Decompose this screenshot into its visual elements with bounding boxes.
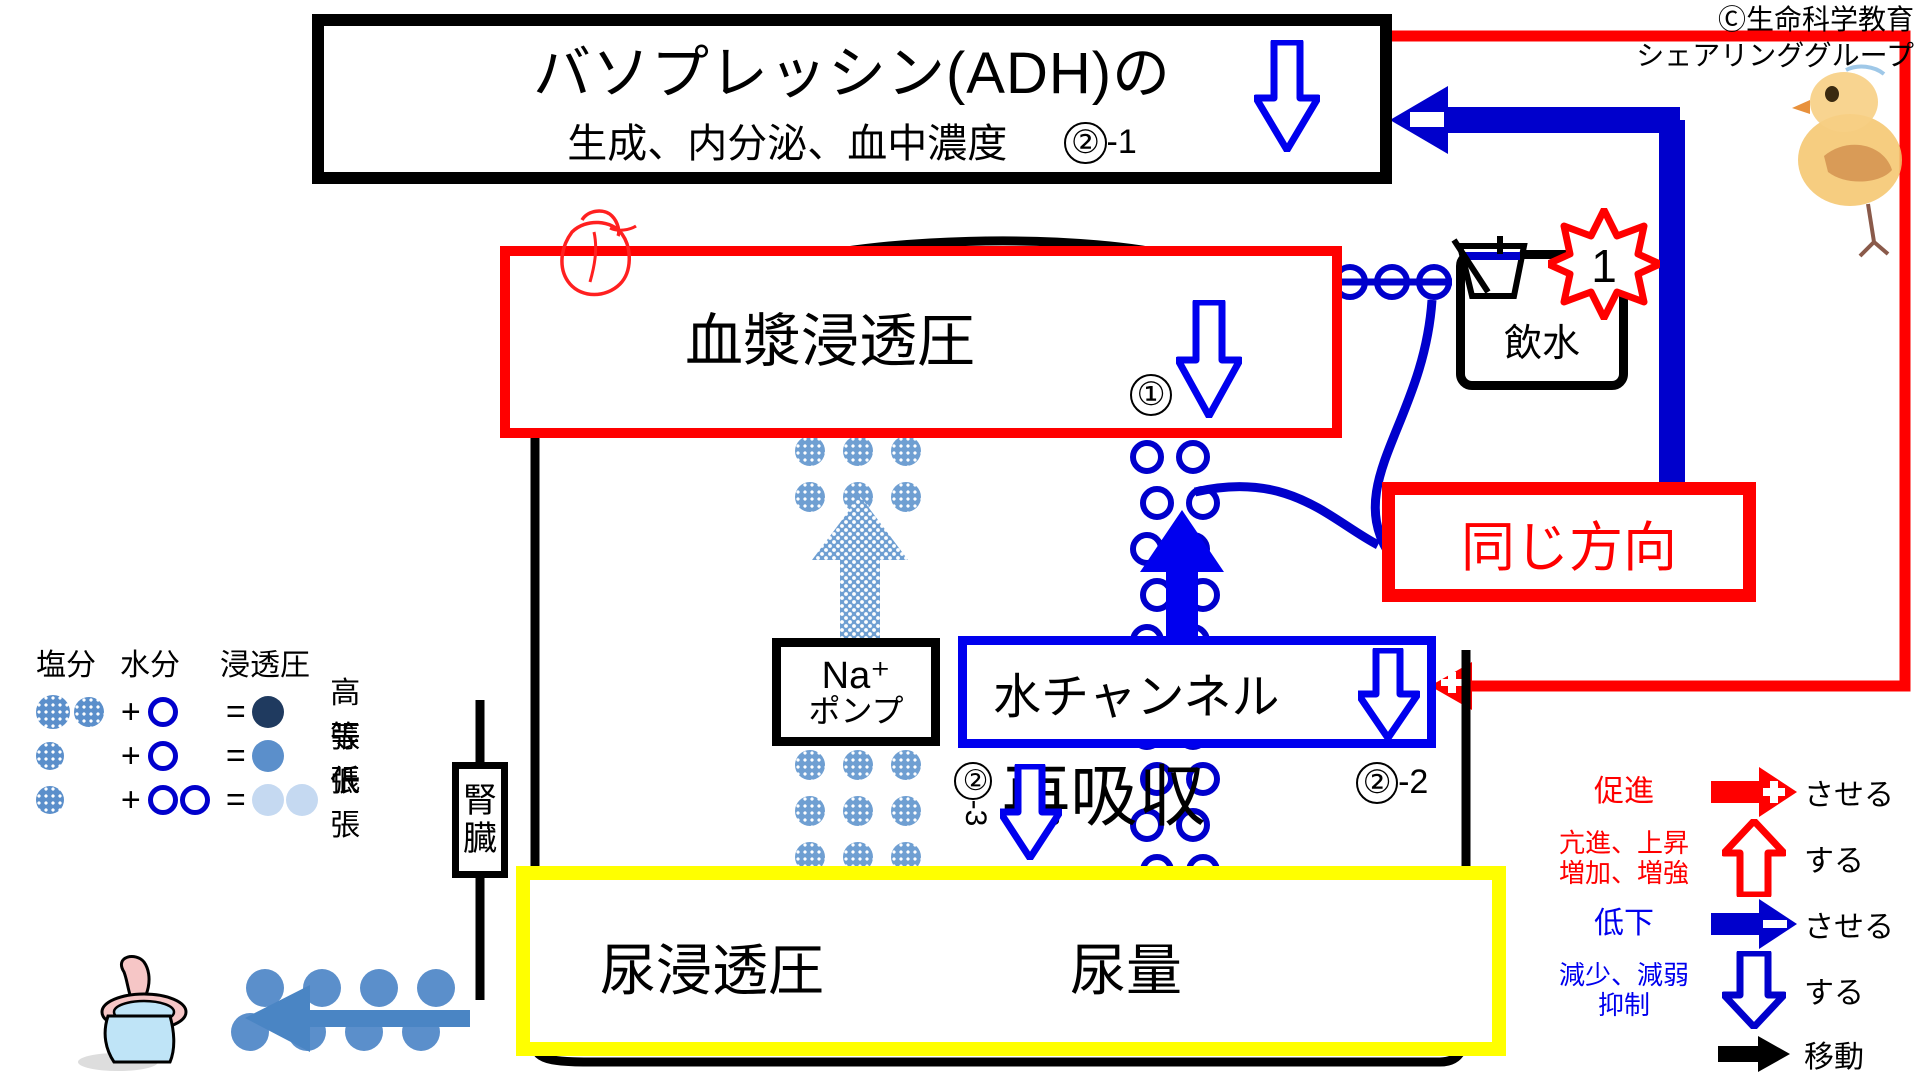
- kidney-label-char1: 腎: [463, 782, 497, 820]
- legend-promote-row2: 亢進、上昇 増加、増強 する: [1540, 818, 1920, 898]
- step-1-star-badge: 1: [1548, 208, 1660, 320]
- legend-header-water: 水分: [120, 640, 220, 684]
- result-dot: [252, 740, 284, 772]
- legend-suppress-caption-2: する: [1804, 968, 1864, 1012]
- legend-suppress-caption-1: させる: [1804, 902, 1894, 946]
- water-ring: [148, 741, 178, 771]
- water-molecule: [1176, 440, 1210, 474]
- move-right-arrow-icon: [1708, 1036, 1800, 1072]
- minus-right-arrow-icon: [1708, 899, 1800, 949]
- legend-equals: =: [220, 781, 252, 820]
- up-outline-red-arrow-icon: [1708, 819, 1800, 897]
- legend-move-caption: 移動: [1804, 1032, 1864, 1076]
- salt-particle: [795, 436, 825, 466]
- legend-plus: +: [114, 737, 147, 776]
- sodium-pump-line2: ポンプ: [808, 695, 903, 727]
- legend-promote-caption-2: する: [1804, 836, 1864, 880]
- legend-salt-dots: [36, 742, 114, 770]
- urine-osmolality-label: 尿浸透圧: [600, 940, 824, 1002]
- legend-salt-dots: [36, 786, 114, 814]
- legend-header-salt: 塩分: [36, 640, 120, 684]
- reabsorption-down-outline-arrow-icon: [1000, 764, 1062, 860]
- same-direction-label: 同じ方向: [1461, 503, 1677, 582]
- legend-move-row: 移動: [1540, 1030, 1920, 1078]
- water-molecule: [1130, 440, 1164, 474]
- adh-title-line1: バソプレッシン(ADH)の: [324, 42, 1380, 106]
- salt-particle: [891, 750, 921, 780]
- legend-promote-row1: 促進 させる: [1540, 766, 1920, 818]
- legend-promote-caption-1: させる: [1804, 770, 1894, 814]
- step-1-star-number: 1: [1591, 240, 1617, 292]
- adh-marker-circle: ②: [1064, 122, 1106, 164]
- salt-particle: [891, 796, 921, 826]
- water-ring: [180, 785, 210, 815]
- legend-water-rings: [148, 697, 220, 727]
- drinking-water-label: 飲水: [1504, 312, 1580, 367]
- legend-result-dots: [252, 784, 323, 816]
- legend-suppress-text-rest: 減少、減弱 抑制: [1540, 960, 1708, 1020]
- adh-title-line2-row: 生成、内分泌、血中濃度 ②-1: [324, 118, 1380, 168]
- toilet-icon: [78, 952, 228, 1076]
- salt-particle: [795, 750, 825, 780]
- water-glass-icon: [1448, 232, 1548, 312]
- salt-dot: [36, 786, 64, 814]
- legend-suppress-text-line3: 抑制: [1540, 990, 1708, 1020]
- result-dot: [252, 696, 284, 728]
- plasma-marker-circle: ①: [1130, 374, 1172, 416]
- kidney-label-char2: 臓: [463, 820, 497, 858]
- reabsorption-marker-circle: ②: [954, 762, 992, 800]
- salt-dot: [36, 695, 70, 729]
- arrow-legend: 促進 させる 亢進、上昇 増加、増強 する 低下: [1540, 766, 1920, 1078]
- legend-water-rings: [148, 785, 220, 815]
- water-channel-down-outline-arrow-icon: [1358, 648, 1420, 740]
- water-channel-marker: ②-2: [1356, 762, 1428, 804]
- legend-water-rings: [148, 741, 220, 771]
- sodium-pump-line1: Na⁺: [822, 657, 891, 695]
- plasma-marker: ①: [1130, 374, 1172, 416]
- adh-title-box: バソプレッシン(ADH)の 生成、内分泌、血中濃度 ②-1: [312, 14, 1392, 184]
- legend-suppress-row1: 低下 させる: [1540, 898, 1920, 950]
- plus-right-arrow-icon: [1708, 767, 1800, 817]
- legend-suppress-row2: 減少、減弱 抑制 する: [1540, 950, 1920, 1030]
- plasma-down-outline-arrow-icon: [1176, 300, 1242, 418]
- sodium-pump-up-arrow: [812, 496, 908, 646]
- legend-result-dots: [252, 740, 323, 772]
- bird-doodle-icon: [1788, 60, 1920, 260]
- sodium-pump-box: Na⁺ ポンプ: [772, 638, 940, 746]
- legend-result-label: 低張: [330, 756, 386, 844]
- kidney-label: 腎 臓: [452, 762, 508, 878]
- legend-header-osmolality: 浸透圧: [220, 640, 310, 684]
- water-ring: [148, 697, 178, 727]
- adh-title-line2: 生成、内分泌、血中濃度: [567, 120, 1007, 168]
- salt-dot: [36, 742, 64, 770]
- adh-marker: ②-1: [1064, 118, 1136, 166]
- copyright-line1: Ⓒ生命科学教育: [1636, 2, 1914, 38]
- adh-marker-suffix: -1: [1107, 123, 1137, 161]
- urine-volume-label: 尿量: [1070, 940, 1182, 1002]
- salt-particle: [843, 796, 873, 826]
- legend-promote-text-rest: 亢進、上昇 増加、増強: [1540, 828, 1708, 888]
- salt-dot: [74, 697, 104, 727]
- salt-particle: [891, 436, 921, 466]
- result-dot: [252, 784, 284, 816]
- salt-particle: [843, 436, 873, 466]
- result-dot: [286, 784, 318, 816]
- legend-salt-dots: [36, 695, 114, 729]
- legend-plus: +: [114, 693, 147, 732]
- down-outline-blue-arrow-icon: [1708, 951, 1800, 1029]
- legend-result-dots: [252, 696, 323, 728]
- water-channel-label: 水チャンネル: [993, 657, 1280, 727]
- plasma-osmolality-label: 血漿浸透圧: [510, 310, 1150, 374]
- legend-equals: =: [220, 693, 252, 732]
- salt-particle: [843, 750, 873, 780]
- water-channel-marker-circle: ②: [1356, 762, 1398, 804]
- salt-particle: [795, 796, 825, 826]
- heart-icon: [548, 202, 644, 302]
- legend-suppress-text-line2: 減少、減弱: [1540, 960, 1708, 990]
- legend-promote-text-line3: 増加、増強: [1540, 858, 1708, 888]
- same-direction-box: 同じ方向: [1382, 482, 1756, 602]
- legend-row: +=低張: [36, 778, 386, 822]
- adh-down-outline-arrow-icon: [1254, 40, 1320, 152]
- reabsorption-marker: ②-3: [952, 762, 992, 826]
- legend-equals: =: [220, 737, 252, 776]
- water-ring: [148, 785, 178, 815]
- legend-promote-text-line2: 亢進、上昇: [1540, 828, 1708, 858]
- legend-suppress-text-line1: 低下: [1540, 909, 1708, 939]
- legend-plus: +: [114, 781, 147, 820]
- reabsorption-marker-suffix: -3: [959, 800, 992, 827]
- osmolality-legend: 塩分 水分 浸透圧 +=高張+=等張+=低張: [36, 640, 386, 822]
- legend-promote-text-line1: 促進: [1540, 777, 1708, 807]
- osmolality-legend-rows: +=高張+=等張+=低張: [36, 690, 386, 822]
- water-channel-marker-suffix: -2: [1398, 763, 1428, 801]
